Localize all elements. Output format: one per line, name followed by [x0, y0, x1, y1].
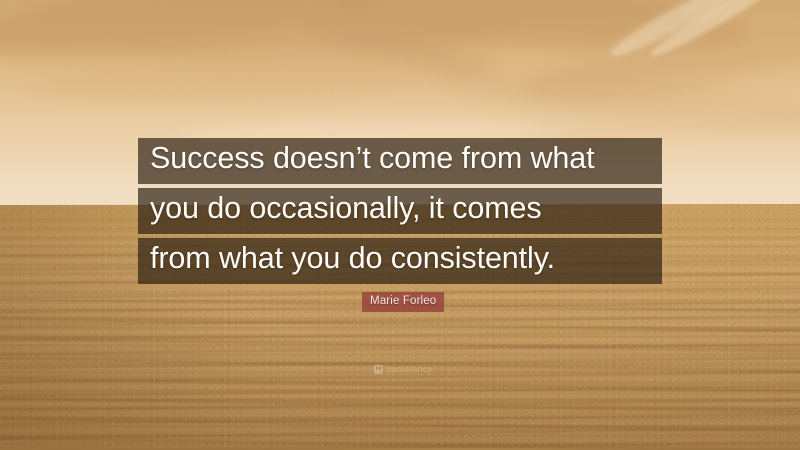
cloud-wisp — [119, 6, 501, 70]
quote-mark-icon — [374, 365, 383, 374]
quote-line-2: you do occasionally, it comes — [138, 188, 662, 234]
sand-ripples — [0, 300, 800, 450]
cloud-streak — [605, 0, 765, 65]
cloud-streak — [646, 0, 784, 62]
site-watermark: quotefancy — [374, 365, 432, 374]
watermark-label: quotefancy — [386, 365, 432, 374]
cloud-wisp — [299, 13, 500, 80]
cloud-wisp — [0, 0, 382, 72]
quote-block: Success doesn’t come from what you do oc… — [138, 138, 662, 284]
cloud-wisp — [19, 50, 480, 106]
quote-author-badge: Marie Forleo — [362, 292, 444, 312]
cloud-wisp — [328, 0, 751, 63]
quote-line-3: from what you do consistently. — [138, 238, 662, 284]
cloud-wisp — [429, 56, 800, 142]
quote-wallpaper: Success doesn’t come from what you do oc… — [0, 0, 800, 450]
cloud-wisp — [518, 5, 800, 113]
quote-line-1: Success doesn’t come from what — [138, 138, 662, 184]
